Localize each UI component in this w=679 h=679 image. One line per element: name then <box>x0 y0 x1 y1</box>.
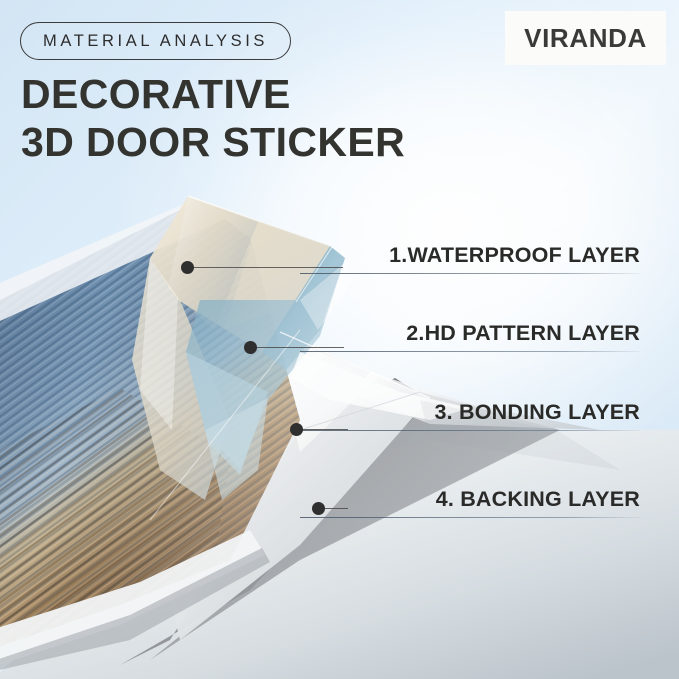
brand-logo: VIRANDA <box>505 11 666 65</box>
callout-label: 2.HD PATTERN LAYER <box>300 323 640 345</box>
leader-line-4 <box>324 508 348 509</box>
callout-backing-layer: 4. BACKING LAYER <box>300 489 640 518</box>
leader-line-1 <box>193 267 343 268</box>
title-line-1: DECORATIVE <box>21 71 291 117</box>
leader-line-2 <box>256 347 344 348</box>
poster-canvas: MATERIAL ANALYSIS DECORATIVE 3D DOOR STI… <box>0 0 679 679</box>
callout-rule <box>300 517 640 518</box>
callout-marker-dot-3 <box>290 423 303 436</box>
page-title: DECORATIVE 3D DOOR STICKER <box>21 70 405 166</box>
callout-label: 4. BACKING LAYER <box>300 489 640 511</box>
callout-hd-pattern-layer: 2.HD PATTERN LAYER <box>300 323 640 352</box>
title-line-2: 3D DOOR STICKER <box>21 118 405 166</box>
leader-line-3 <box>302 429 348 430</box>
callout-marker-dot-2 <box>244 341 257 354</box>
callout-label: 3. BONDING LAYER <box>300 402 640 424</box>
callout-waterproof-layer: 1.WATERPROOF LAYER <box>300 245 640 274</box>
callout-bonding-layer: 3. BONDING LAYER <box>300 402 640 431</box>
callout-rule <box>300 430 640 431</box>
material-analysis-badge: MATERIAL ANALYSIS <box>20 22 291 60</box>
badge-label: MATERIAL ANALYSIS <box>43 32 268 51</box>
brand-name: VIRANDA <box>524 23 647 54</box>
callout-rule <box>300 273 640 274</box>
callout-label: 1.WATERPROOF LAYER <box>300 245 640 267</box>
callout-marker-dot-1 <box>181 261 194 274</box>
callout-rule <box>300 351 640 352</box>
callout-marker-dot-4 <box>312 502 325 515</box>
